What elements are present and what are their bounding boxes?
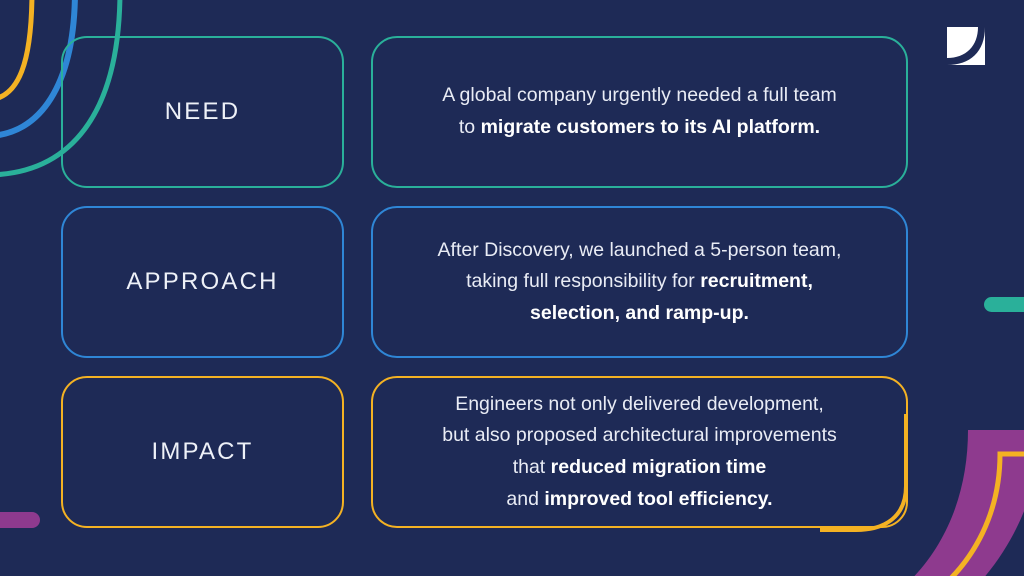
body-card-approach[interactable]: After Discovery, we launched a 5-person … (371, 206, 908, 358)
label-text-need: NEED (165, 98, 240, 127)
body-card-impact[interactable]: Engineers not only delivered development… (371, 376, 908, 528)
body-card-need[interactable]: A global company urgently needed a full … (371, 36, 908, 188)
row-impact: IMPACT Engineers not only delivered deve… (61, 376, 908, 528)
label-text-approach: APPROACH (126, 268, 278, 297)
body-text-approach: After Discovery, we launched a 5-person … (438, 235, 842, 330)
top-left-arc-yellow-icon (0, 0, 32, 100)
label-card-impact[interactable]: IMPACT (61, 376, 344, 528)
body-text-impact: Engineers not only delivered development… (442, 389, 837, 515)
body-text-need: A global company urgently needed a full … (442, 80, 837, 143)
row-approach: APPROACH After Discovery, we launched a … (61, 206, 908, 358)
slide-canvas: NEED A global company urgently needed a … (0, 0, 1024, 576)
label-card-approach[interactable]: APPROACH (61, 206, 344, 358)
right-edge-bar-teal-icon (984, 297, 1024, 312)
label-card-need[interactable]: NEED (61, 36, 344, 188)
brand-logo (944, 24, 988, 68)
left-edge-bar-purple-icon (0, 512, 40, 528)
bottom-right-arc-yellow-inner-icon (936, 454, 1024, 576)
label-text-impact: IMPACT (151, 438, 253, 467)
bottom-right-band-purple-icon (893, 430, 1024, 576)
row-need: NEED A global company urgently needed a … (61, 36, 908, 188)
cards-grid: NEED A global company urgently needed a … (61, 36, 908, 528)
brand-square-swoosh-logo-icon (947, 27, 985, 65)
